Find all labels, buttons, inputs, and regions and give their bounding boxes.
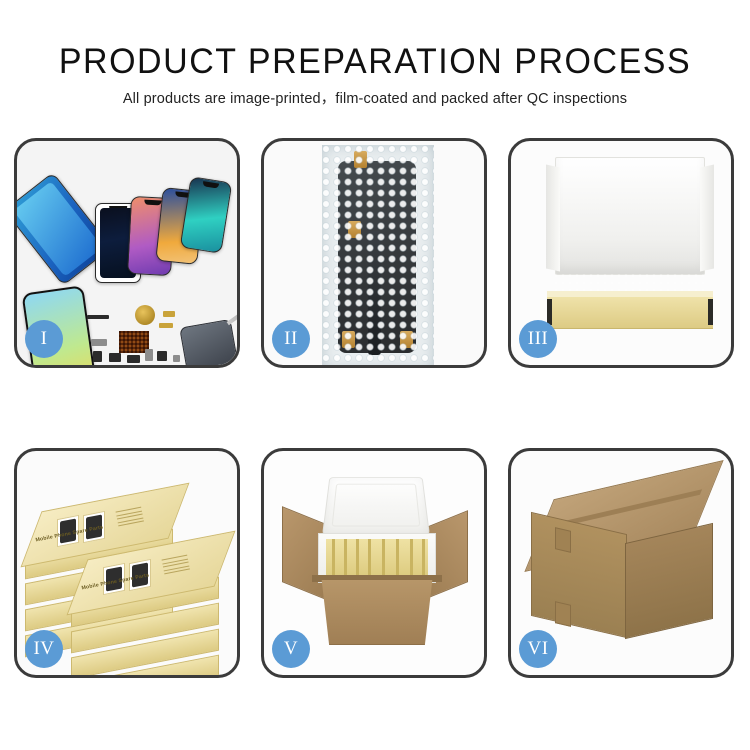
foam-lid-open-icon <box>322 477 430 535</box>
bubble-wrap-bag-icon <box>322 145 434 365</box>
box-corner-tab <box>708 299 713 325</box>
step-badge-3: III <box>519 320 557 358</box>
kraft-box-front-icon <box>547 297 713 329</box>
phone-screen-teal-icon <box>180 176 233 254</box>
process-step-5[interactable]: V <box>261 448 487 678</box>
carton-right-face-icon <box>625 523 713 639</box>
part-chip <box>91 339 107 346</box>
part-chip <box>157 351 167 361</box>
bubble-texture <box>322 145 434 365</box>
part-chip <box>87 315 109 319</box>
process-step-4[interactable]: Mobile Phone Spare Parts Mobile Phone Sp… <box>14 448 240 678</box>
part-chip <box>127 355 140 363</box>
speaker-coil-icon <box>135 305 155 325</box>
step-badge-5: V <box>272 630 310 668</box>
foam-lid-icon <box>555 157 705 275</box>
part-chip <box>109 353 121 362</box>
part-chip <box>159 323 173 328</box>
process-step-1[interactable]: I <box>14 138 240 368</box>
process-step-2[interactable]: II <box>261 138 487 368</box>
process-step-grid: I II <box>14 138 736 683</box>
step-badge-1: I <box>25 320 63 358</box>
step-badge-4: IV <box>25 630 63 668</box>
page-title: PRODUCT PREPARATION PROCESS <box>11 42 739 82</box>
part-chip <box>93 351 102 362</box>
carton-flap-tab <box>555 527 571 553</box>
header: PRODUCT PREPARATION PROCESS All products… <box>0 0 750 109</box>
step-badge-2: II <box>272 320 310 358</box>
process-step-3[interactable]: III <box>508 138 734 368</box>
part-chip <box>163 311 175 317</box>
box-corner-tab <box>547 299 552 325</box>
part-chip <box>173 355 180 362</box>
spare-parts-cluster <box>87 309 237 365</box>
product-preparation-infographic: PRODUCT PREPARATION PROCESS All products… <box>0 0 750 750</box>
page-subtitle: All products are image-printed，film-coat… <box>0 89 750 109</box>
carton-body-icon <box>314 579 440 645</box>
packed-yellow-boxes-icon <box>326 539 428 577</box>
back-housing-icon <box>179 319 237 365</box>
step-badge-6: VI <box>519 630 557 668</box>
process-step-6[interactable]: VI <box>508 448 734 678</box>
carton-flap-tab <box>555 601 571 627</box>
carton-left-face-icon <box>531 512 627 638</box>
part-chip <box>145 349 153 361</box>
tweezers-icon <box>227 305 237 325</box>
